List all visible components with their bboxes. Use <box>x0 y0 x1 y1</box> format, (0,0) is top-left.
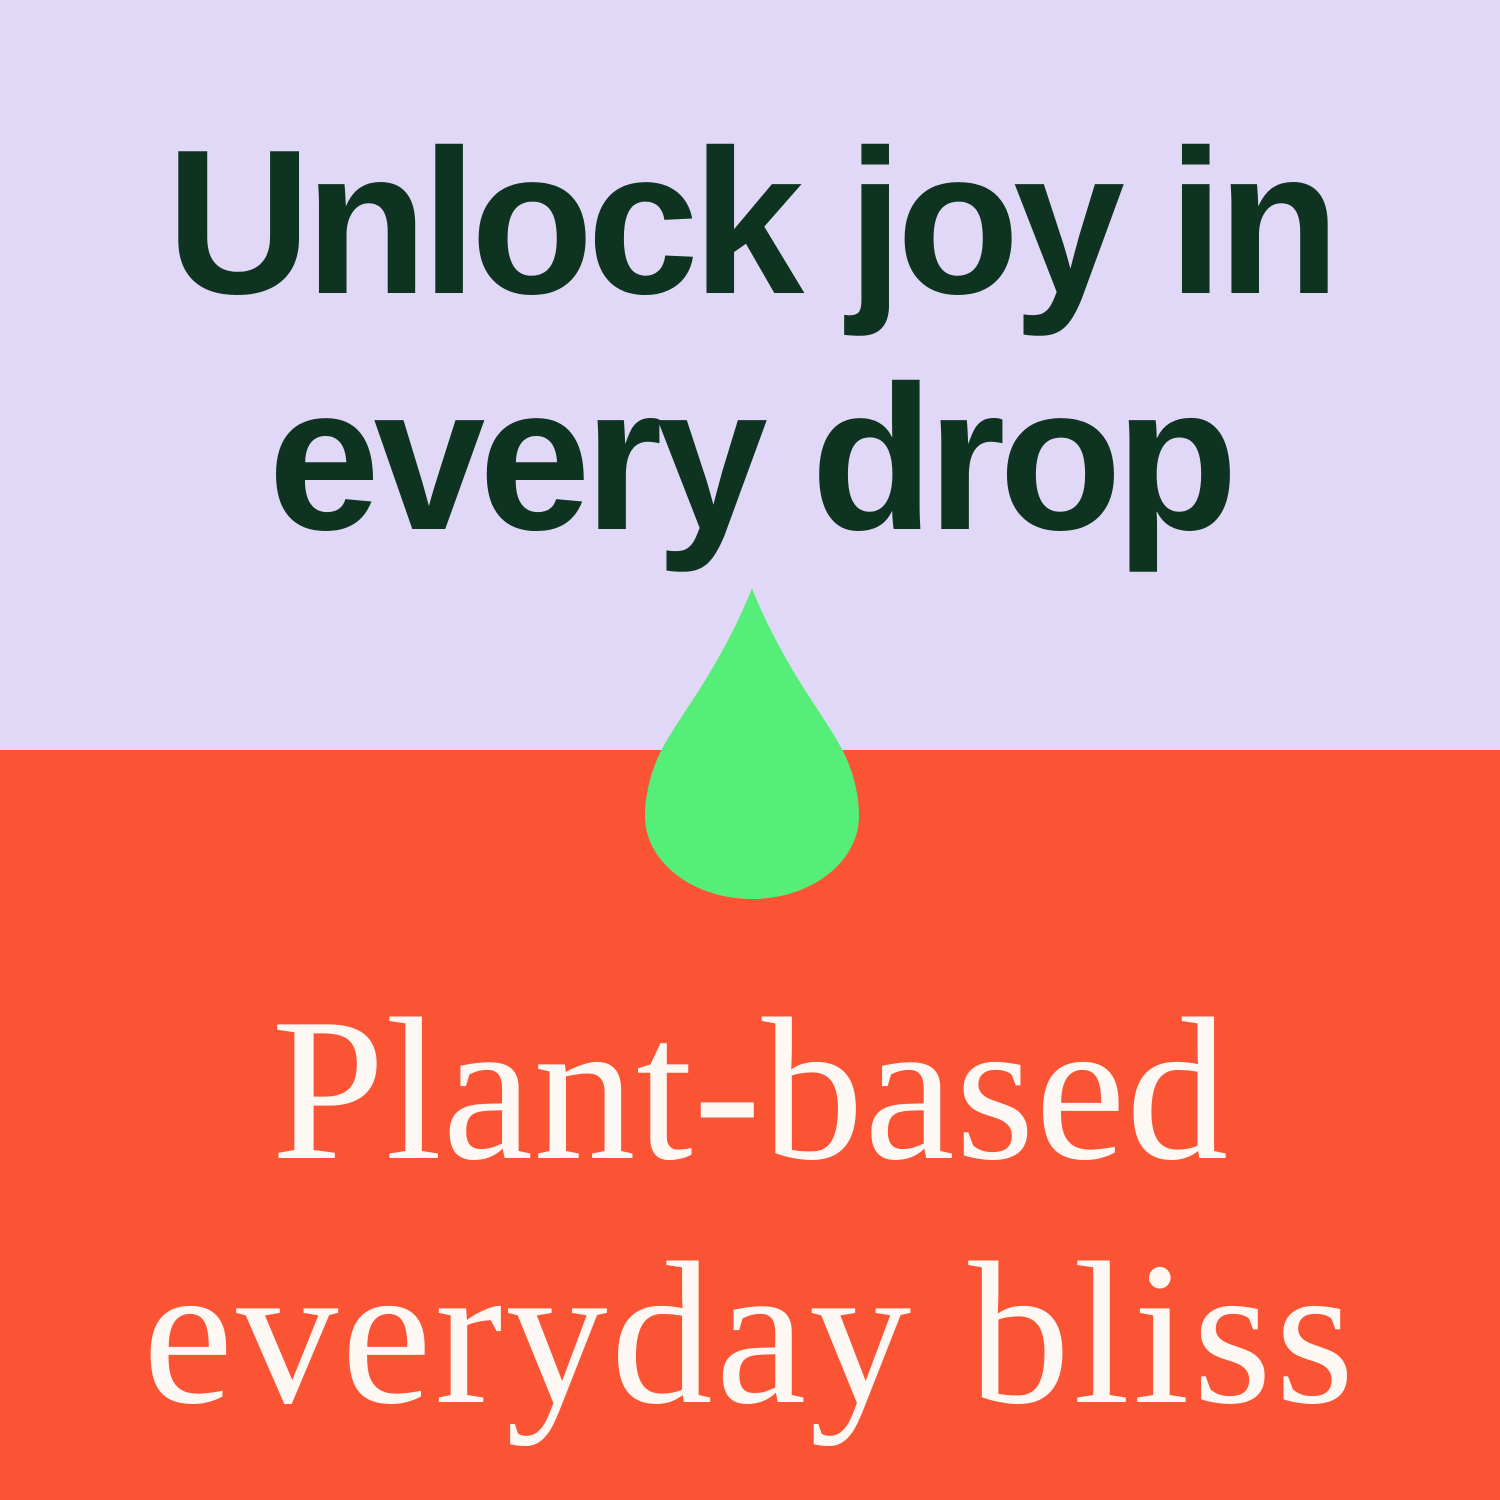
headline: Unlock joy in every drop <box>19 104 1482 576</box>
water-droplet-icon <box>645 588 859 899</box>
subline: Plant-based everyday bliss <box>0 968 1500 1456</box>
promo-poster: Unlock joy in every drop Plant-based eve… <box>0 0 1500 1500</box>
subline-line-2: everyday bliss <box>0 1212 1500 1456</box>
headline-line-1: Unlock joy in <box>19 104 1482 340</box>
headline-line-2: every drop <box>19 340 1482 576</box>
subline-line-1: Plant-based <box>0 968 1500 1212</box>
